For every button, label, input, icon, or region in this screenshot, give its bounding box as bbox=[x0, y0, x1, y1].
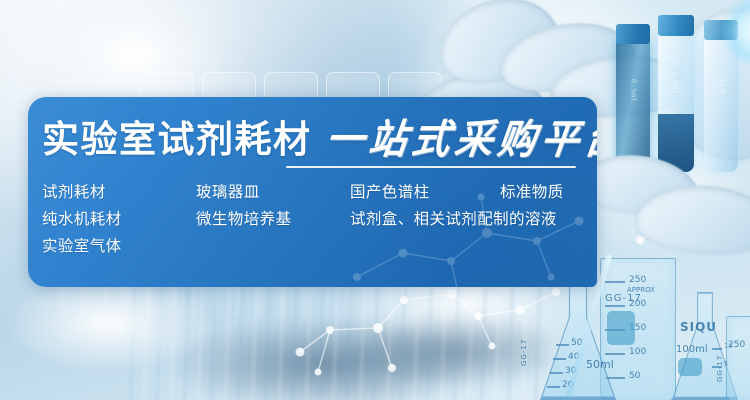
beaker-far-right bbox=[726, 316, 750, 400]
category-item-domestic-chromatography-columns[interactable]: 国产色谱柱 bbox=[350, 179, 430, 206]
beaker-small-brand: SIQU bbox=[680, 320, 717, 334]
flask-left-material: GG-17 bbox=[520, 339, 528, 366]
headline-primary: 实验室试剂耗材 bbox=[42, 118, 312, 162]
beaker-small-material: GG-17 bbox=[716, 355, 724, 382]
cryovial-1-cap bbox=[616, 24, 650, 44]
background-glow-bottom-left bbox=[0, 276, 270, 400]
headline-brush: 一站式采购平台 bbox=[323, 116, 597, 163]
category-list: 试剂耗材 玻璃器皿 国产色谱柱 标准物质 纯水机耗材 微生物培养基 试剂盒、相关… bbox=[42, 179, 587, 260]
beaker-far-right-tick-250: 250 bbox=[728, 340, 745, 350]
beaker-big-tick-100: 100 bbox=[629, 347, 646, 357]
category-item-glassware[interactable]: 玻璃器皿 bbox=[196, 179, 260, 206]
cryovial-2: 1.8ml bbox=[658, 32, 694, 172]
headline-row: 实验室试剂耗材 一站式采购平台 bbox=[42, 117, 597, 162]
category-item-kits-and-solutions[interactable]: 试剂盒、相关试剂配制的溶液 bbox=[350, 206, 557, 233]
cryovial-1: 0.5ml bbox=[616, 40, 650, 172]
banner: 250 APPROX 200 150 100 50 GG-17 50 40 30… bbox=[0, 0, 750, 400]
beaker-big-label-square bbox=[607, 311, 635, 345]
category-item-lab-gases[interactable]: 实验室气体 bbox=[42, 233, 122, 260]
beaker-big-material: GG-17 bbox=[605, 293, 642, 304]
beaker-small-volume: 100ml bbox=[676, 344, 708, 355]
category-row: 试剂耗材 玻璃器皿 国产色谱柱 标准物质 bbox=[42, 179, 587, 206]
category-row: 实验室气体 bbox=[42, 233, 587, 260]
beaker-big: 250 APPROX 200 150 100 50 GG-17 bbox=[600, 258, 676, 400]
headline-underline bbox=[286, 166, 576, 168]
category-item-reagent-consumables[interactable]: 试剂耗材 bbox=[42, 179, 106, 206]
beaker-big-tick-250: 250 bbox=[629, 275, 646, 285]
category-item-microbial-media[interactable]: 微生物培养基 bbox=[196, 206, 291, 233]
cryovial-1-label: 0.5ml bbox=[629, 77, 638, 105]
cryovial-2-label: 1.8ml bbox=[671, 69, 680, 97]
category-item-reference-materials[interactable]: 标准物质 bbox=[500, 179, 564, 206]
cryovial-3-label: CLM bbox=[717, 73, 726, 101]
beaker-small-label-square bbox=[678, 358, 702, 376]
headline-panel: 实验室试剂耗材 一站式采购平台 试剂耗材 玻璃器皿 国产色谱柱 标准物质 纯水机… bbox=[28, 97, 597, 287]
beaker-big-tick-50: 50 bbox=[629, 371, 640, 381]
cryovial-2-cap bbox=[658, 15, 694, 36]
flask-left-volume: 50ml bbox=[586, 358, 614, 371]
category-row: 纯水机耗材 微生物培养基 试剂盒、相关试剂配制的溶液 bbox=[42, 206, 587, 233]
category-item-water-purifier-consumables[interactable]: 纯水机耗材 bbox=[42, 206, 122, 233]
